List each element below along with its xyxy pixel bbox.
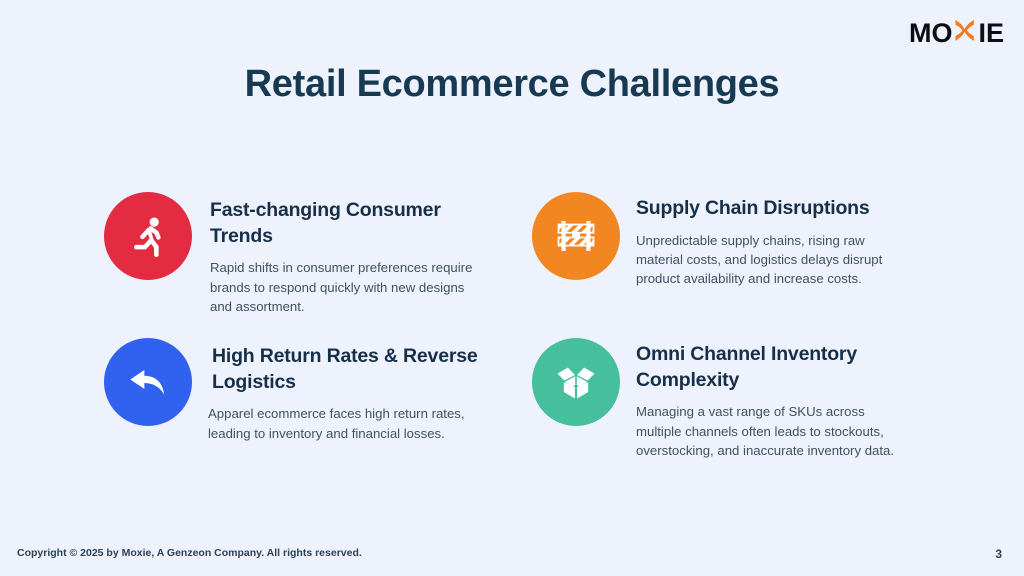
- copyright-text: Copyright © 2025 by Moxie, A Genzeon Com…: [17, 547, 362, 559]
- logo-text-after: IE: [978, 20, 1004, 47]
- challenge-card-high-return-rates: High Return Rates & Reverse Logistics Ap…: [104, 336, 532, 460]
- card-heading: Omni Channel Inventory Complexity: [636, 342, 908, 393]
- page-number: 3: [995, 547, 1002, 561]
- moxie-logo: MO IE: [909, 17, 1004, 49]
- open-box-icon: [532, 338, 620, 426]
- challenge-card-supply-chain-disruptions: Supply Chain Disruptions Unpredictable s…: [532, 190, 960, 336]
- road-barrier-icon: [532, 192, 620, 280]
- return-arrow-icon: [104, 338, 192, 426]
- logo-text-before: MO: [909, 20, 953, 47]
- card-body: Omni Channel Inventory Complexity Managi…: [636, 336, 912, 460]
- logo-x-icon: [952, 17, 978, 49]
- card-description: Rapid shifts in consumer preferences req…: [210, 258, 486, 316]
- card-heading: Fast-changing Consumer Trends: [210, 198, 482, 249]
- card-heading: Supply Chain Disruptions: [636, 196, 908, 222]
- slide: MO IE Retail Ecommerce Challenges: [0, 0, 1024, 576]
- card-description: Unpredictable supply chains, rising raw …: [636, 231, 912, 289]
- challenge-card-omni-channel-inventory: Omni Channel Inventory Complexity Managi…: [532, 336, 960, 460]
- card-heading: High Return Rates & Reverse Logistics: [208, 344, 480, 395]
- challenge-card-fast-changing-consumer-trends: Fast-changing Consumer Trends Rapid shif…: [104, 190, 532, 336]
- running-person-icon: [104, 192, 192, 280]
- card-body: Fast-changing Consumer Trends Rapid shif…: [208, 190, 486, 316]
- card-description: Apparel ecommerce faces high return rate…: [208, 404, 484, 443]
- card-body: Supply Chain Disruptions Unpredictable s…: [636, 190, 912, 289]
- challenges-grid: Fast-changing Consumer Trends Rapid shif…: [0, 190, 1024, 460]
- card-description: Managing a vast range of SKUs across mul…: [636, 402, 912, 460]
- card-body: High Return Rates & Reverse Logistics Ap…: [208, 336, 484, 443]
- page-title: Retail Ecommerce Challenges: [0, 63, 1024, 106]
- logo-wordmark: MO IE: [909, 17, 1004, 49]
